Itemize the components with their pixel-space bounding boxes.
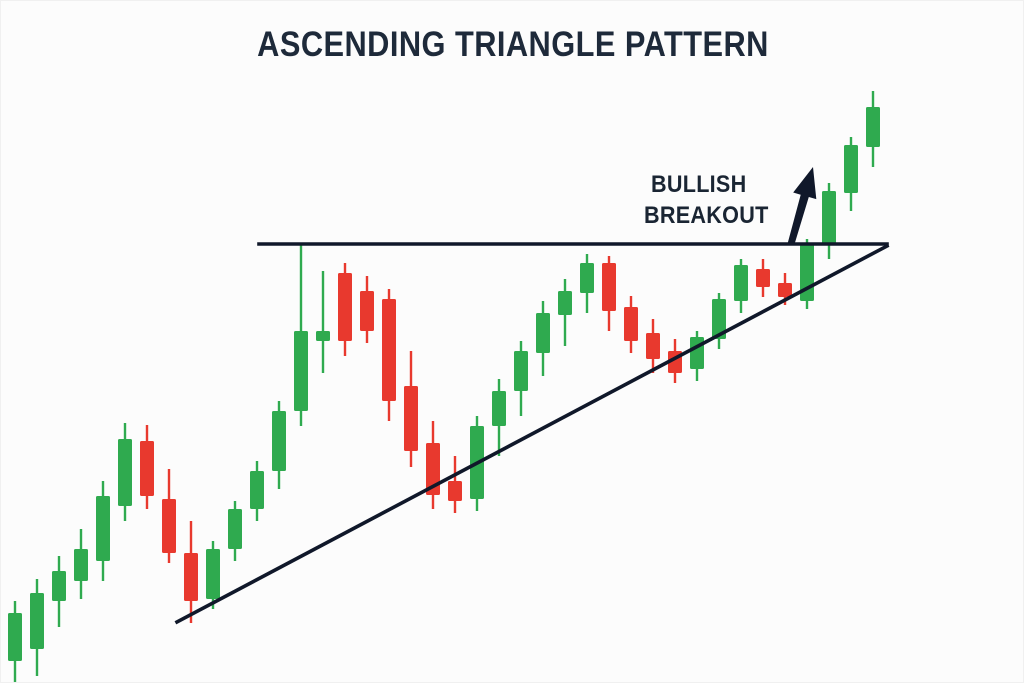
candle-body [360, 291, 374, 331]
candle-body [52, 571, 66, 601]
annotation-breakout-label: BREAKOUT [644, 200, 769, 232]
candle-body [624, 307, 638, 341]
candle-body [74, 549, 88, 581]
candle-body [272, 411, 286, 471]
candle-body [162, 499, 176, 553]
candle-body [96, 496, 110, 561]
candle-body [404, 386, 418, 451]
candle-body [30, 593, 44, 649]
candle-body [558, 291, 572, 315]
candlestick-plot [1, 1, 1024, 683]
candle-body [756, 269, 770, 287]
candle-body [580, 263, 594, 293]
candle-body [250, 471, 264, 509]
candle-body [646, 333, 660, 359]
chart-canvas: ASCENDING TRIANGLE PATTERN BULLISH BREAK… [0, 0, 1024, 683]
candle-body [734, 265, 748, 301]
candle-body [316, 331, 330, 341]
candle-body [294, 331, 308, 411]
candle-body [690, 337, 704, 369]
candle-body [602, 263, 616, 311]
candle-body [228, 509, 242, 549]
candle-body [338, 273, 352, 341]
candle-body [140, 441, 154, 496]
candles-group [8, 91, 880, 683]
candle-body [382, 299, 396, 401]
candle-body [778, 283, 792, 297]
candle-body [822, 191, 836, 245]
annotation-bullish-label: BULLISH [651, 169, 746, 201]
candle-body [536, 313, 550, 353]
candle-body [184, 553, 198, 601]
up-right-arrow [788, 167, 817, 245]
candle-body [8, 613, 22, 661]
candle-body [118, 439, 132, 506]
candle-body [492, 391, 506, 426]
candle-body [844, 145, 858, 193]
up-right-arrow-icon [788, 167, 817, 245]
candle-body [514, 351, 528, 391]
candle-body [206, 549, 220, 599]
candle-body [448, 481, 462, 501]
candle-body [866, 107, 880, 147]
